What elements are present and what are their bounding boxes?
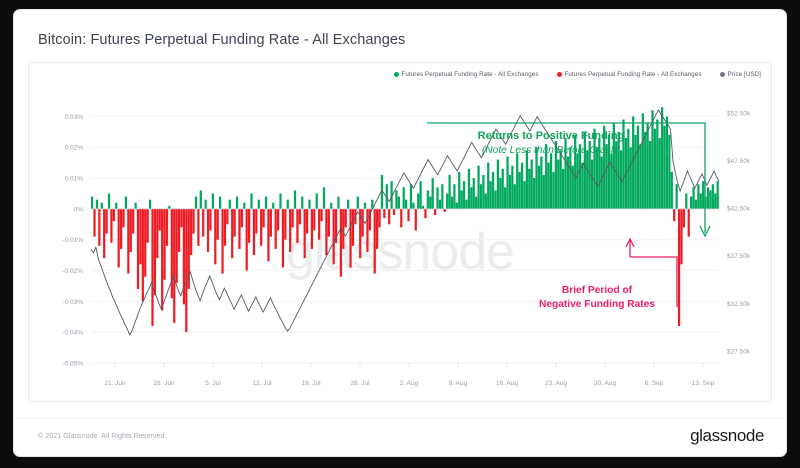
annotation-negative-funding-line2: Negative Funding Rates bbox=[539, 299, 655, 310]
chart-canvas: 0.03%0.02%0.01%0%-0.01%-0.02%-0.03%-0.04… bbox=[29, 63, 773, 403]
y-axis-right-tick: $47.50k bbox=[727, 158, 751, 165]
footer-divider bbox=[14, 417, 786, 418]
y-axis-left-tick: 0.02% bbox=[65, 145, 84, 152]
y-axis-right-tick: $32.50k bbox=[727, 301, 751, 308]
y-axis-left-tick: -0.01% bbox=[62, 237, 83, 244]
x-axis-tick: 2. Aug bbox=[400, 380, 419, 387]
y-axis-right-tick: $37.50k bbox=[727, 253, 751, 260]
y-axis-right-tick: $52.50k bbox=[727, 110, 751, 117]
x-axis-tick: 23. Aug bbox=[545, 380, 567, 387]
y-axis-right-tick: $27.50k bbox=[727, 348, 751, 355]
x-axis-tick: 13. Sep bbox=[692, 380, 715, 387]
x-axis-tick: 9. Aug bbox=[449, 380, 468, 387]
x-axis-labels: 21. Jun28. Jun5. Jul12. Jul19. Jul26. Ju… bbox=[104, 380, 714, 387]
plot-area: glassnode Futures Perpetual Funding Rate… bbox=[28, 62, 772, 402]
y-axis-left-tick: 0.03% bbox=[65, 114, 84, 121]
y-axis-left-labels: 0.03%0.02%0.01%0%-0.01%-0.02%-0.03%-0.04… bbox=[62, 114, 83, 368]
x-axis-tick: 5. Jul bbox=[205, 380, 221, 387]
x-axis-tick: 16. Aug bbox=[496, 380, 518, 387]
y-axis-left-tick: -0.04% bbox=[62, 330, 83, 337]
annotation-returns-positive-title: Returns to Positive Funding bbox=[478, 130, 625, 142]
chart-card: Bitcoin: Futures Perpetual Funding Rate … bbox=[14, 10, 786, 456]
y-axis-left-tick: -0.02% bbox=[62, 268, 83, 275]
copyright-text: © 2021 Glassnode. All Rights Reserved. bbox=[38, 431, 166, 440]
x-axis-tick: 6. Sep bbox=[645, 380, 664, 387]
x-axis-tick: 19. Jul bbox=[301, 380, 321, 387]
y-axis-left-tick: 0.01% bbox=[65, 175, 84, 182]
y-axis-left-tick: -0.03% bbox=[62, 299, 83, 306]
y-axis-left-tick: 0% bbox=[74, 206, 84, 213]
x-axis-tick: 21. Jun bbox=[104, 380, 126, 387]
y-axis-right-labels: $52.50k$47.50k$42.50k$37.50k$32.50k$27.5… bbox=[727, 110, 751, 355]
x-axis-tick: 28. Jun bbox=[153, 380, 175, 387]
y-axis-left-tick: -0.05% bbox=[62, 360, 83, 367]
y-axis-right-tick: $42.50k bbox=[727, 206, 751, 213]
annotation-negative-funding-line1: Brief Period of bbox=[562, 285, 633, 296]
x-axis-tick: 26. Jul bbox=[350, 380, 370, 387]
glassnode-logo: glassnode bbox=[690, 426, 764, 446]
x-axis-tick: 30. Aug bbox=[594, 380, 616, 387]
page-title: Bitcoin: Futures Perpetual Funding Rate … bbox=[38, 32, 405, 48]
x-axis-tick: 12. Jul bbox=[252, 380, 272, 387]
annotation-returns-positive-subtitle: (Note Less than Before Crash) bbox=[482, 145, 620, 156]
